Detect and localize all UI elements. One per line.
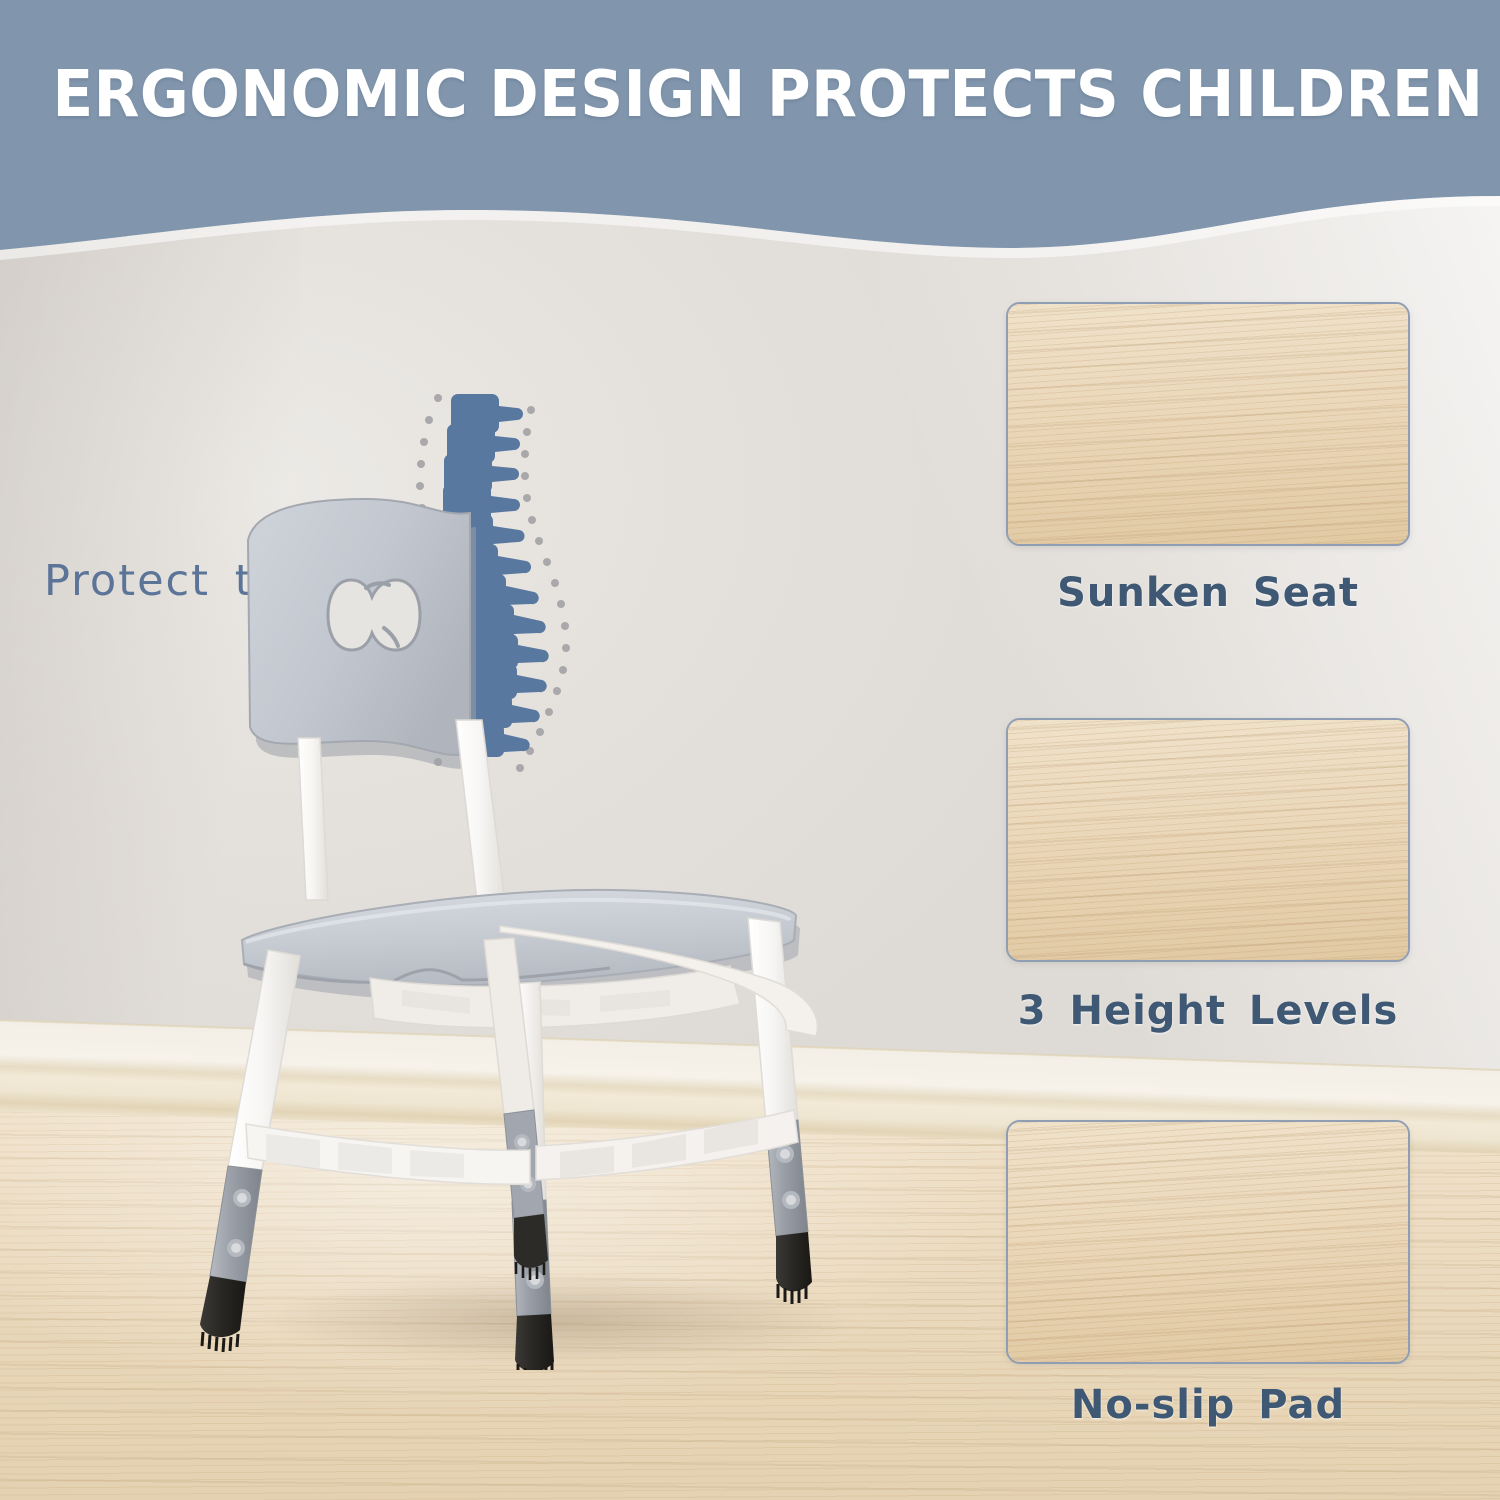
page-title: ERGONOMIC DESIGN PROTECTS CHILDREN	[53, 58, 1448, 132]
panel-wood-background	[1006, 302, 1410, 546]
feature-label-no-slip-pad: No-slip Pad	[1006, 1382, 1410, 1428]
banner-wave-shape	[0, 0, 1500, 280]
feature-panel-no-slip-pad[interactable]	[1006, 1120, 1410, 1364]
chair-backrest	[248, 499, 476, 769]
feature-panel-height-levels[interactable]	[1006, 718, 1410, 962]
header-banner: ERGONOMIC DESIGN PROTECTS CHILDREN	[0, 0, 1500, 270]
panel-wood-background	[1006, 1120, 1410, 1364]
feature-panel-sunken-seat[interactable]	[1006, 302, 1410, 546]
product-chair	[170, 470, 890, 1370]
feature-label-height-levels: 3 Height Levels	[1006, 988, 1410, 1034]
feature-label-sunken-seat: Sunken Seat	[1006, 570, 1410, 616]
panel-wood-background	[1006, 718, 1410, 962]
infographic-canvas: ERGONOMIC DESIGN PROTECTS CHILDREN Prote…	[0, 0, 1500, 1500]
